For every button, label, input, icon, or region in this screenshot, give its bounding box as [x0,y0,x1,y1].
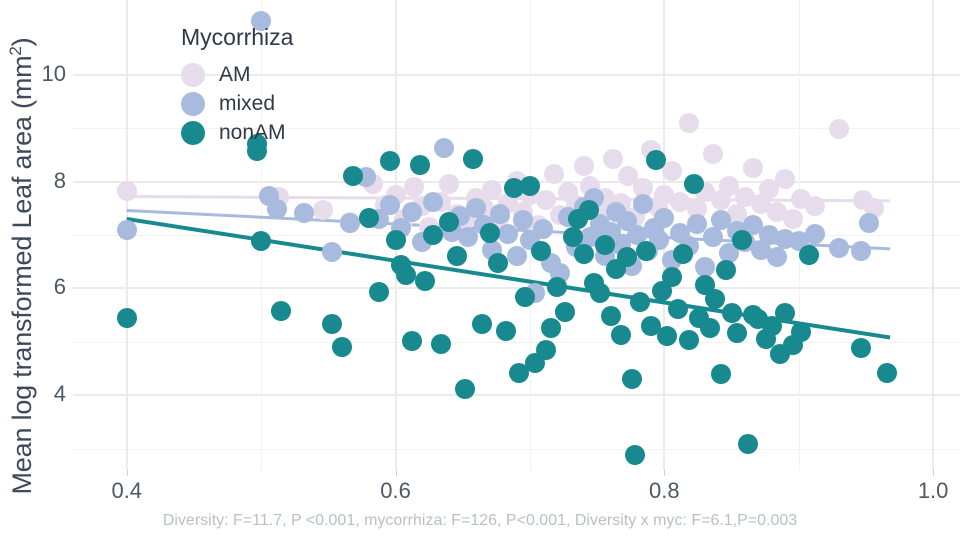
legend-item-nonam[interactable]: nonAM [181,118,293,147]
data-point [117,181,137,201]
data-point [496,321,516,341]
legend-key-icon [181,63,205,87]
data-point [488,253,508,273]
data-point [636,241,656,261]
data-point [783,209,803,229]
data-point [601,306,621,326]
plot-panel: Mycorrhiza AMmixednonAM [73,0,960,470]
scatter-plot-figure: Mean log transformed Leaf area (mm2) 468… [0,0,960,540]
legend-item-label: AM [219,63,251,87]
data-point [431,334,451,354]
data-point [662,161,682,181]
data-point [595,235,615,255]
x-axis-ticks: 0.40.60.81.0 [73,470,960,510]
data-point [617,247,637,267]
data-point [533,219,553,239]
data-point [603,149,623,169]
data-point [322,314,342,334]
data-point [117,308,137,328]
data-point [396,265,416,285]
data-point [679,330,699,350]
data-point [555,302,575,322]
data-point [711,364,731,384]
data-point [695,257,715,277]
data-point [463,149,483,169]
data-point [791,322,811,342]
data-point [410,155,430,175]
x-tick-label: 0.4 [87,478,167,504]
data-point [633,194,653,214]
x-tick-mark [933,470,934,476]
x-tick-label: 0.8 [624,478,704,504]
data-point [574,244,594,264]
data-point [439,174,459,194]
data-point [700,318,720,338]
data-point [369,282,389,302]
data-point [447,246,467,266]
data-point [402,331,422,351]
data-point [799,245,819,265]
legend-item-label: nonAM [219,121,286,145]
data-point [251,231,271,251]
data-point [738,434,758,454]
data-point [705,289,725,309]
gridline-major-vertical [932,0,934,470]
data-point [343,166,363,186]
data-point [402,202,422,222]
legend-item-label: mixed [219,92,275,116]
data-point [415,271,435,291]
data-point [703,227,723,247]
data-point [536,340,556,360]
data-point [657,326,677,346]
x-tick-mark [396,470,397,476]
data-point [490,204,510,224]
data-point [684,174,704,194]
legend-items: AMmixednonAM [181,60,293,147]
data-point [767,247,787,267]
data-point [322,242,342,262]
data-point [805,196,825,216]
data-point [507,246,527,266]
y-tick-label: 8 [6,168,66,194]
data-point [590,283,610,303]
legend-item-mixed[interactable]: mixed [181,89,293,118]
legend-item-am[interactable]: AM [181,60,293,89]
data-point [622,369,642,389]
data-point [271,301,291,321]
data-point [332,337,352,357]
data-point [117,220,137,240]
data-point [877,363,897,383]
data-point [515,287,535,307]
data-point [851,241,871,261]
data-point [520,176,540,196]
data-point [679,113,699,133]
data-point [673,244,693,264]
data-point [531,241,551,261]
data-point [662,267,682,287]
gridline-major-horizontal [73,287,960,289]
data-point [775,169,795,189]
data-point [423,192,443,212]
data-point [805,224,825,244]
x-tick-mark [127,470,128,476]
statistics-caption: Diversity: F=11.7, P <0.001, mycorrhiza:… [0,512,960,530]
data-point [544,164,564,184]
data-point [574,156,594,176]
data-point [267,199,287,219]
y-tick-label: 4 [6,381,66,407]
data-point [434,138,454,158]
legend-key-icon [181,92,205,116]
data-point [630,292,650,312]
legend: Mycorrhiza AMmixednonAM [181,24,293,147]
data-point [775,303,795,323]
data-point [727,323,747,343]
gridline-minor-horizontal [73,449,960,450]
x-tick-label: 1.0 [893,478,960,504]
data-point [743,158,763,178]
data-point [654,208,674,228]
x-tick-label: 0.6 [356,478,436,504]
legend-title: Mycorrhiza [181,24,293,51]
data-point [541,318,561,338]
data-point [716,260,736,280]
data-point [480,223,500,243]
y-tick-label: 6 [6,274,66,300]
data-point [668,299,688,319]
data-point [859,213,879,233]
gridline-major-horizontal [73,394,960,396]
data-point [829,119,849,139]
data-point [547,277,567,297]
data-point [625,445,645,465]
data-point [386,230,406,250]
data-point [380,151,400,171]
data-point [294,203,314,223]
gridline-minor-horizontal [73,342,960,343]
data-point [472,314,492,334]
legend-key-icon [181,121,205,145]
x-tick-mark [664,470,665,476]
y-tick-label: 10 [6,61,66,87]
data-point [404,177,424,197]
data-point [340,213,360,233]
data-point [703,144,723,164]
data-point [722,303,742,323]
data-point [313,200,333,220]
data-point [829,238,849,258]
data-point [359,208,379,228]
data-point [851,338,871,358]
y-axis-ticks: 46810 [0,0,66,470]
